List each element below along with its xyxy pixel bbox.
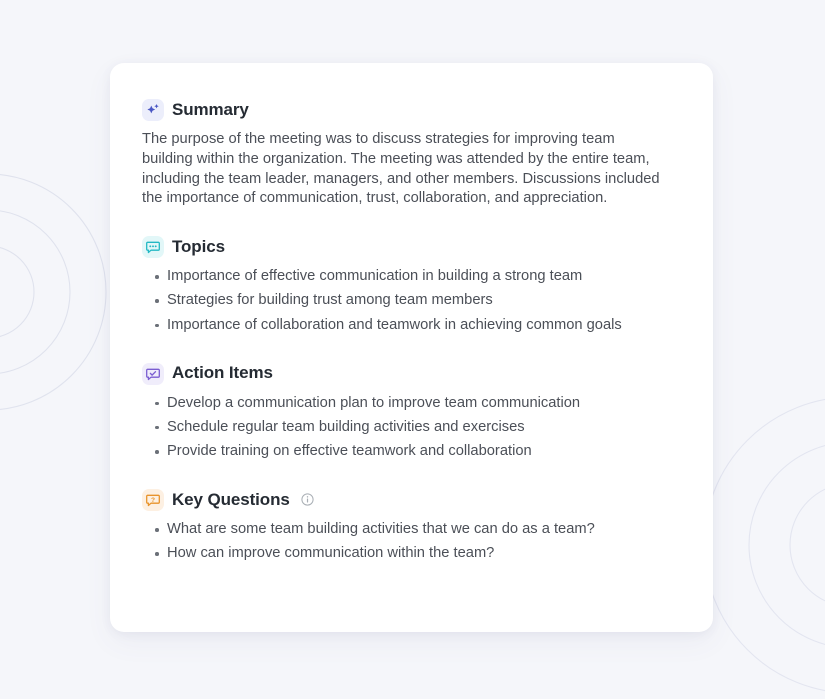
section-header-topics: Topics — [142, 236, 681, 258]
section-title: Topics — [172, 237, 225, 257]
list-item: Strategies for building trust among team… — [142, 291, 681, 311]
section-header-key-questions: ? Key Questions — [142, 489, 681, 511]
list-item: Importance of effective communication in… — [142, 267, 681, 287]
info-icon[interactable] — [301, 493, 314, 506]
list-item: Develop a communication plan to improve … — [142, 394, 681, 414]
action-items-list: Develop a communication plan to improve … — [142, 394, 681, 462]
list-item: How can improve communication within the… — [142, 544, 681, 564]
section-title: Action Items — [172, 363, 273, 383]
key-questions-list: What are some team building activities t… — [142, 520, 681, 564]
section-action-items: Action Items Develop a communication pla… — [142, 363, 681, 462]
section-summary: Summary The purpose of the meeting was t… — [142, 99, 681, 209]
section-header-summary: Summary — [142, 99, 681, 121]
chat-check-icon — [142, 363, 164, 385]
meeting-notes-card: Summary The purpose of the meeting was t… — [110, 63, 713, 632]
chat-question-icon: ? — [142, 489, 164, 511]
list-item: Provide training on effective teamwork a… — [142, 442, 681, 462]
list-item: Importance of collaboration and teamwork… — [142, 316, 681, 336]
topics-list: Importance of effective communication in… — [142, 267, 681, 335]
list-item: What are some team building activities t… — [142, 520, 681, 540]
section-header-action-items: Action Items — [142, 363, 681, 385]
section-title: Summary — [172, 100, 249, 120]
section-key-questions: ? Key Questions What are some team build… — [142, 489, 681, 564]
summary-text: The purpose of the meeting was to discus… — [142, 130, 666, 209]
section-title: Key Questions — [172, 490, 290, 510]
sparkle-icon — [142, 99, 164, 121]
svg-text:?: ? — [151, 497, 155, 504]
list-item: Schedule regular team building activitie… — [142, 418, 681, 438]
chat-dots-icon — [142, 236, 164, 258]
section-topics: Topics Importance of effective communica… — [142, 236, 681, 335]
